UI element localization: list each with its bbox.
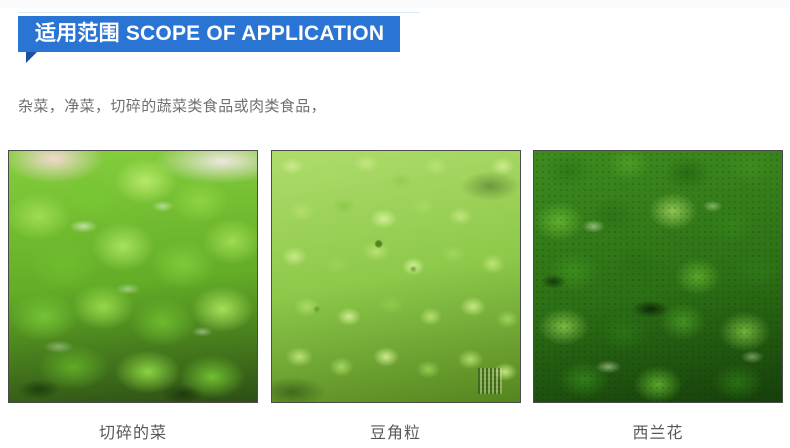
broccoli-florets-image [534, 151, 782, 402]
gallery-item-caption: 豆角粒 [271, 419, 521, 443]
banner-tail-triangle [26, 52, 37, 63]
chopped-lettuce-image [9, 151, 257, 402]
product-photo-chopped-vegetables[interactable] [8, 150, 258, 403]
gallery-item: 切碎的菜 [8, 150, 258, 443]
section-banner: 适用范围 SCOPE OF APPLICATION [18, 16, 400, 52]
top-hairline-divider [18, 12, 420, 13]
gallery-item: 西兰花 [533, 150, 783, 443]
product-photo-green-beans[interactable] [271, 150, 521, 403]
section-banner-body: 适用范围 SCOPE OF APPLICATION [18, 16, 400, 52]
gallery-item-caption: 切碎的菜 [8, 419, 258, 443]
section-banner-title: 适用范围 SCOPE OF APPLICATION [35, 23, 384, 44]
gallery-item-caption: 西兰花 [533, 419, 783, 443]
section-subtitle: 杂菜，净菜，切碎的蔬菜类食品或肉类食品， [18, 95, 326, 116]
product-image-gallery: 切碎的菜 豆角粒 西兰花 [8, 150, 783, 443]
gallery-item: 豆角粒 [271, 150, 521, 443]
top-background-strip [0, 0, 790, 8]
cut-green-beans-image [272, 151, 520, 402]
product-photo-broccoli[interactable] [533, 150, 783, 403]
qr-watermark-icon [478, 368, 502, 394]
